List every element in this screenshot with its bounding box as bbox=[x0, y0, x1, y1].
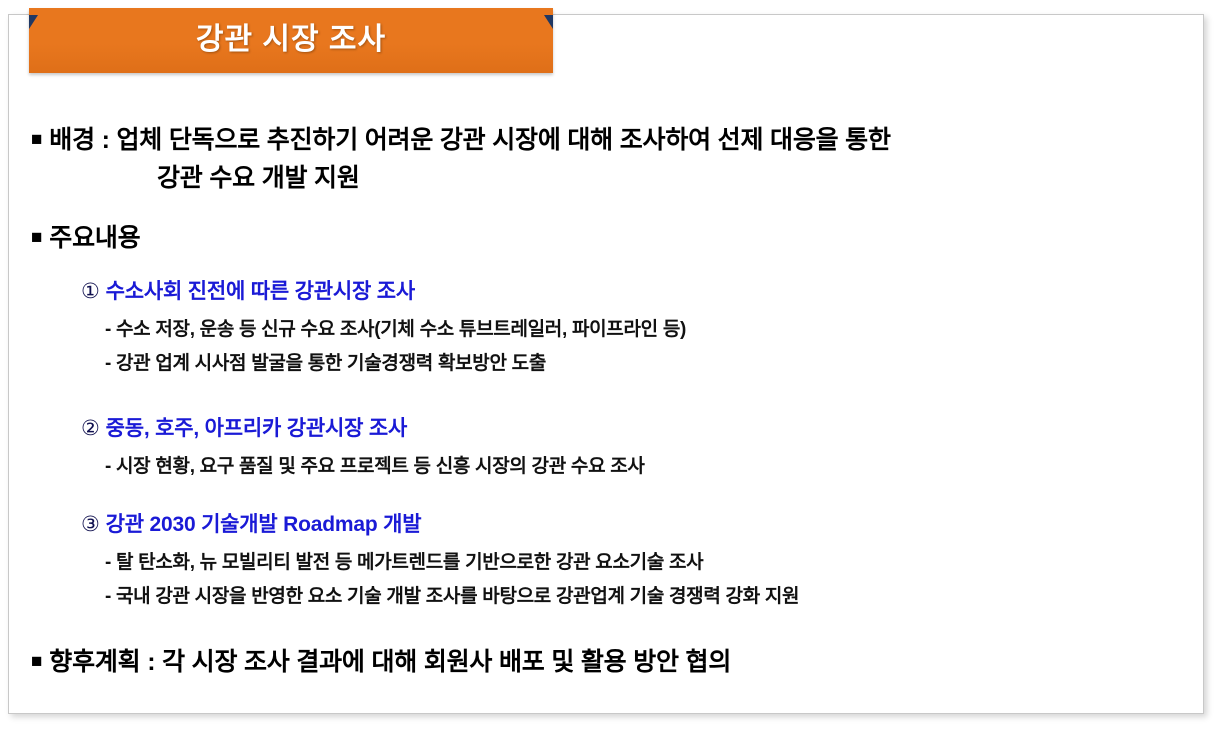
content-item-2-title: ②중동, 호주, 아프리카 강관시장 조사 bbox=[81, 412, 407, 442]
content-item-2-title-text: 중동, 호주, 아프리카 강관시장 조사 bbox=[106, 417, 408, 440]
title-banner: 강관 시장 조사 bbox=[21, 8, 553, 73]
content-item-1-title: ①수소사회 진전에 따른 강관시장 조사 bbox=[81, 275, 415, 305]
content-item-3-sub-2: - 국내 강관 시장을 반영한 요소 기술 개발 조사를 바탕으로 강관업계 기… bbox=[105, 581, 799, 608]
title-banner-shape: 강관 시장 조사 bbox=[29, 8, 553, 73]
content-item-2-sub-1: - 시장 현황, 요구 품질 및 주요 프로젝트 등 신흥 시장의 강관 수요 … bbox=[105, 451, 645, 478]
circled-number-2-icon: ② bbox=[81, 417, 100, 440]
content-item-1-title-text: 수소사회 진전에 따른 강관시장 조사 bbox=[106, 280, 415, 303]
background-line-1-text: 배경 : 업체 단독으로 추진하기 어려운 강관 시장에 대해 조사하여 선제 … bbox=[49, 126, 890, 154]
future-plan-line: ■향후계획 : 각 시장 조사 결과에 대해 회원사 배포 및 활용 방안 협의 bbox=[31, 642, 731, 678]
square-bullet-icon: ■ bbox=[31, 227, 42, 248]
content-item-3-title-text: 강관 2030 기술개발 Roadmap 개발 bbox=[106, 513, 422, 536]
banner-notch-left-icon bbox=[29, 15, 38, 29]
content-item-3-sub-1: - 탈 탄소화, 뉴 모빌리티 발전 등 메가트렌드를 기반으로한 강관 요소기… bbox=[105, 547, 703, 574]
banner-notch-right-icon bbox=[544, 15, 553, 29]
content-item-1-sub-1: - 수소 저장, 운송 등 신규 수요 조사(기체 수소 튜브트레일러, 파이프… bbox=[105, 314, 686, 341]
slide-title: 강관 시장 조사 bbox=[29, 8, 553, 73]
slide-canvas: 강관 시장 조사 ■배경 : 업체 단독으로 추진하기 어려운 강관 시장에 대… bbox=[8, 14, 1204, 714]
content-item-1-sub-2: - 강관 업계 시사점 발굴을 통한 기술경쟁력 확보방안 도출 bbox=[105, 348, 546, 375]
content-item-3-title: ③강관 2030 기술개발 Roadmap 개발 bbox=[81, 508, 421, 538]
main-contents-heading: ■주요내용 bbox=[31, 218, 140, 254]
main-contents-heading-text: 주요내용 bbox=[49, 224, 140, 252]
circled-number-1-icon: ① bbox=[81, 280, 100, 303]
circled-number-3-icon: ③ bbox=[81, 513, 100, 536]
background-line-1: ■배경 : 업체 단독으로 추진하기 어려운 강관 시장에 대해 조사하여 선제… bbox=[31, 120, 891, 156]
square-bullet-icon: ■ bbox=[31, 129, 42, 150]
future-plan-text: 향후계획 : 각 시장 조사 결과에 대해 회원사 배포 및 활용 방안 협의 bbox=[49, 648, 731, 676]
background-line-2: 강관 수요 개발 지원 bbox=[157, 158, 360, 194]
square-bullet-icon: ■ bbox=[31, 651, 42, 672]
